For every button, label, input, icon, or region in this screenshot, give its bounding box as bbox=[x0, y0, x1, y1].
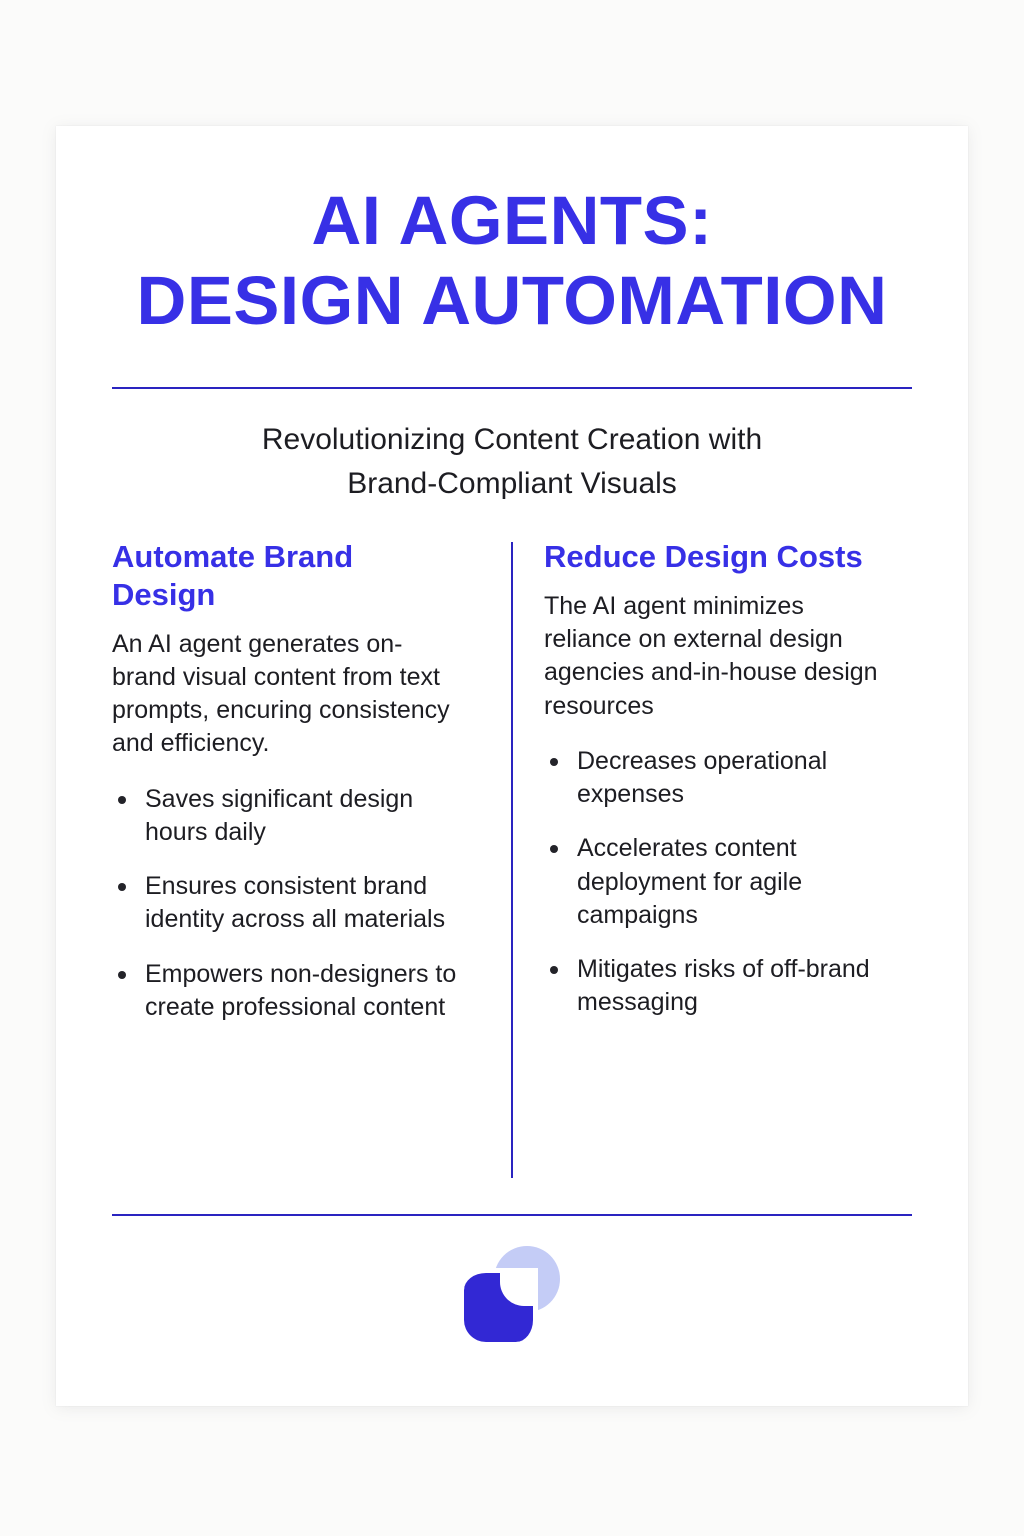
bullet-list-left: Saves significant design hours daily Ens… bbox=[112, 783, 462, 1025]
content-columns: Automate Brand Design An AI agent genera… bbox=[112, 538, 912, 1178]
brand-logo-icon bbox=[464, 1246, 560, 1342]
column-body-left: An AI agent generates on-brand visual co… bbox=[112, 628, 462, 761]
poster-title: AI AGENTS: DESIGN AUTOMATION bbox=[56, 186, 968, 337]
bullet-dot-icon bbox=[550, 845, 558, 853]
column-automate-brand-design: Automate Brand Design An AI agent genera… bbox=[112, 538, 502, 1178]
title-line-2: DESIGN AUTOMATION bbox=[56, 266, 968, 336]
logo-notch-shape bbox=[500, 1272, 534, 1306]
bullet-text: Ensures consistent brand identity across… bbox=[145, 872, 445, 933]
poster-subtitle: Revolutionizing Content Creation with Br… bbox=[112, 418, 912, 505]
bullet-text: Saves significant design hours daily bbox=[145, 785, 413, 846]
divider-bottom bbox=[112, 1214, 912, 1216]
divider-vertical bbox=[511, 542, 513, 1178]
poster-card: AI AGENTS: DESIGN AUTOMATION Revolutioni… bbox=[56, 126, 968, 1406]
logo-square-shape bbox=[464, 1268, 538, 1342]
list-item: Decreases operational expenses bbox=[544, 745, 892, 812]
column-body-right: The AI agent minimizes reliance on exter… bbox=[544, 590, 892, 723]
list-item: Ensures consistent brand identity across… bbox=[112, 870, 462, 937]
bullet-list-right: Decreases operational expenses Accelerat… bbox=[544, 745, 892, 1020]
subtitle-line-1: Revolutionizing Content Creation with bbox=[112, 418, 912, 462]
column-reduce-design-costs: Reduce Design Costs The AI agent minimiz… bbox=[502, 538, 892, 1178]
page-canvas: AI AGENTS: DESIGN AUTOMATION Revolutioni… bbox=[0, 0, 1024, 1536]
column-heading-right: Reduce Design Costs bbox=[544, 538, 892, 576]
bullet-dot-icon bbox=[550, 966, 558, 974]
list-item: Accelerates content deployment for agile… bbox=[544, 832, 892, 932]
column-heading-left: Automate Brand Design bbox=[112, 538, 462, 614]
bullet-text: Mitigates risks of off-brand messaging bbox=[577, 955, 870, 1016]
bullet-dot-icon bbox=[118, 796, 126, 804]
title-line-1: AI AGENTS: bbox=[56, 186, 968, 256]
bullet-dot-icon bbox=[118, 971, 126, 979]
list-item: Empowers non-designers to create profess… bbox=[112, 958, 462, 1025]
bullet-dot-icon bbox=[118, 883, 126, 891]
bullet-dot-icon bbox=[550, 758, 558, 766]
subtitle-line-2: Brand-Compliant Visuals bbox=[112, 462, 912, 506]
list-item: Saves significant design hours daily bbox=[112, 783, 462, 850]
bullet-text: Empowers non-designers to create profess… bbox=[145, 960, 456, 1021]
divider-top bbox=[112, 387, 912, 389]
list-item: Mitigates risks of off-brand messaging bbox=[544, 953, 892, 1020]
bullet-text: Decreases operational expenses bbox=[577, 747, 827, 808]
bullet-text: Accelerates content deployment for agile… bbox=[577, 834, 802, 929]
logo-container bbox=[56, 1246, 968, 1342]
